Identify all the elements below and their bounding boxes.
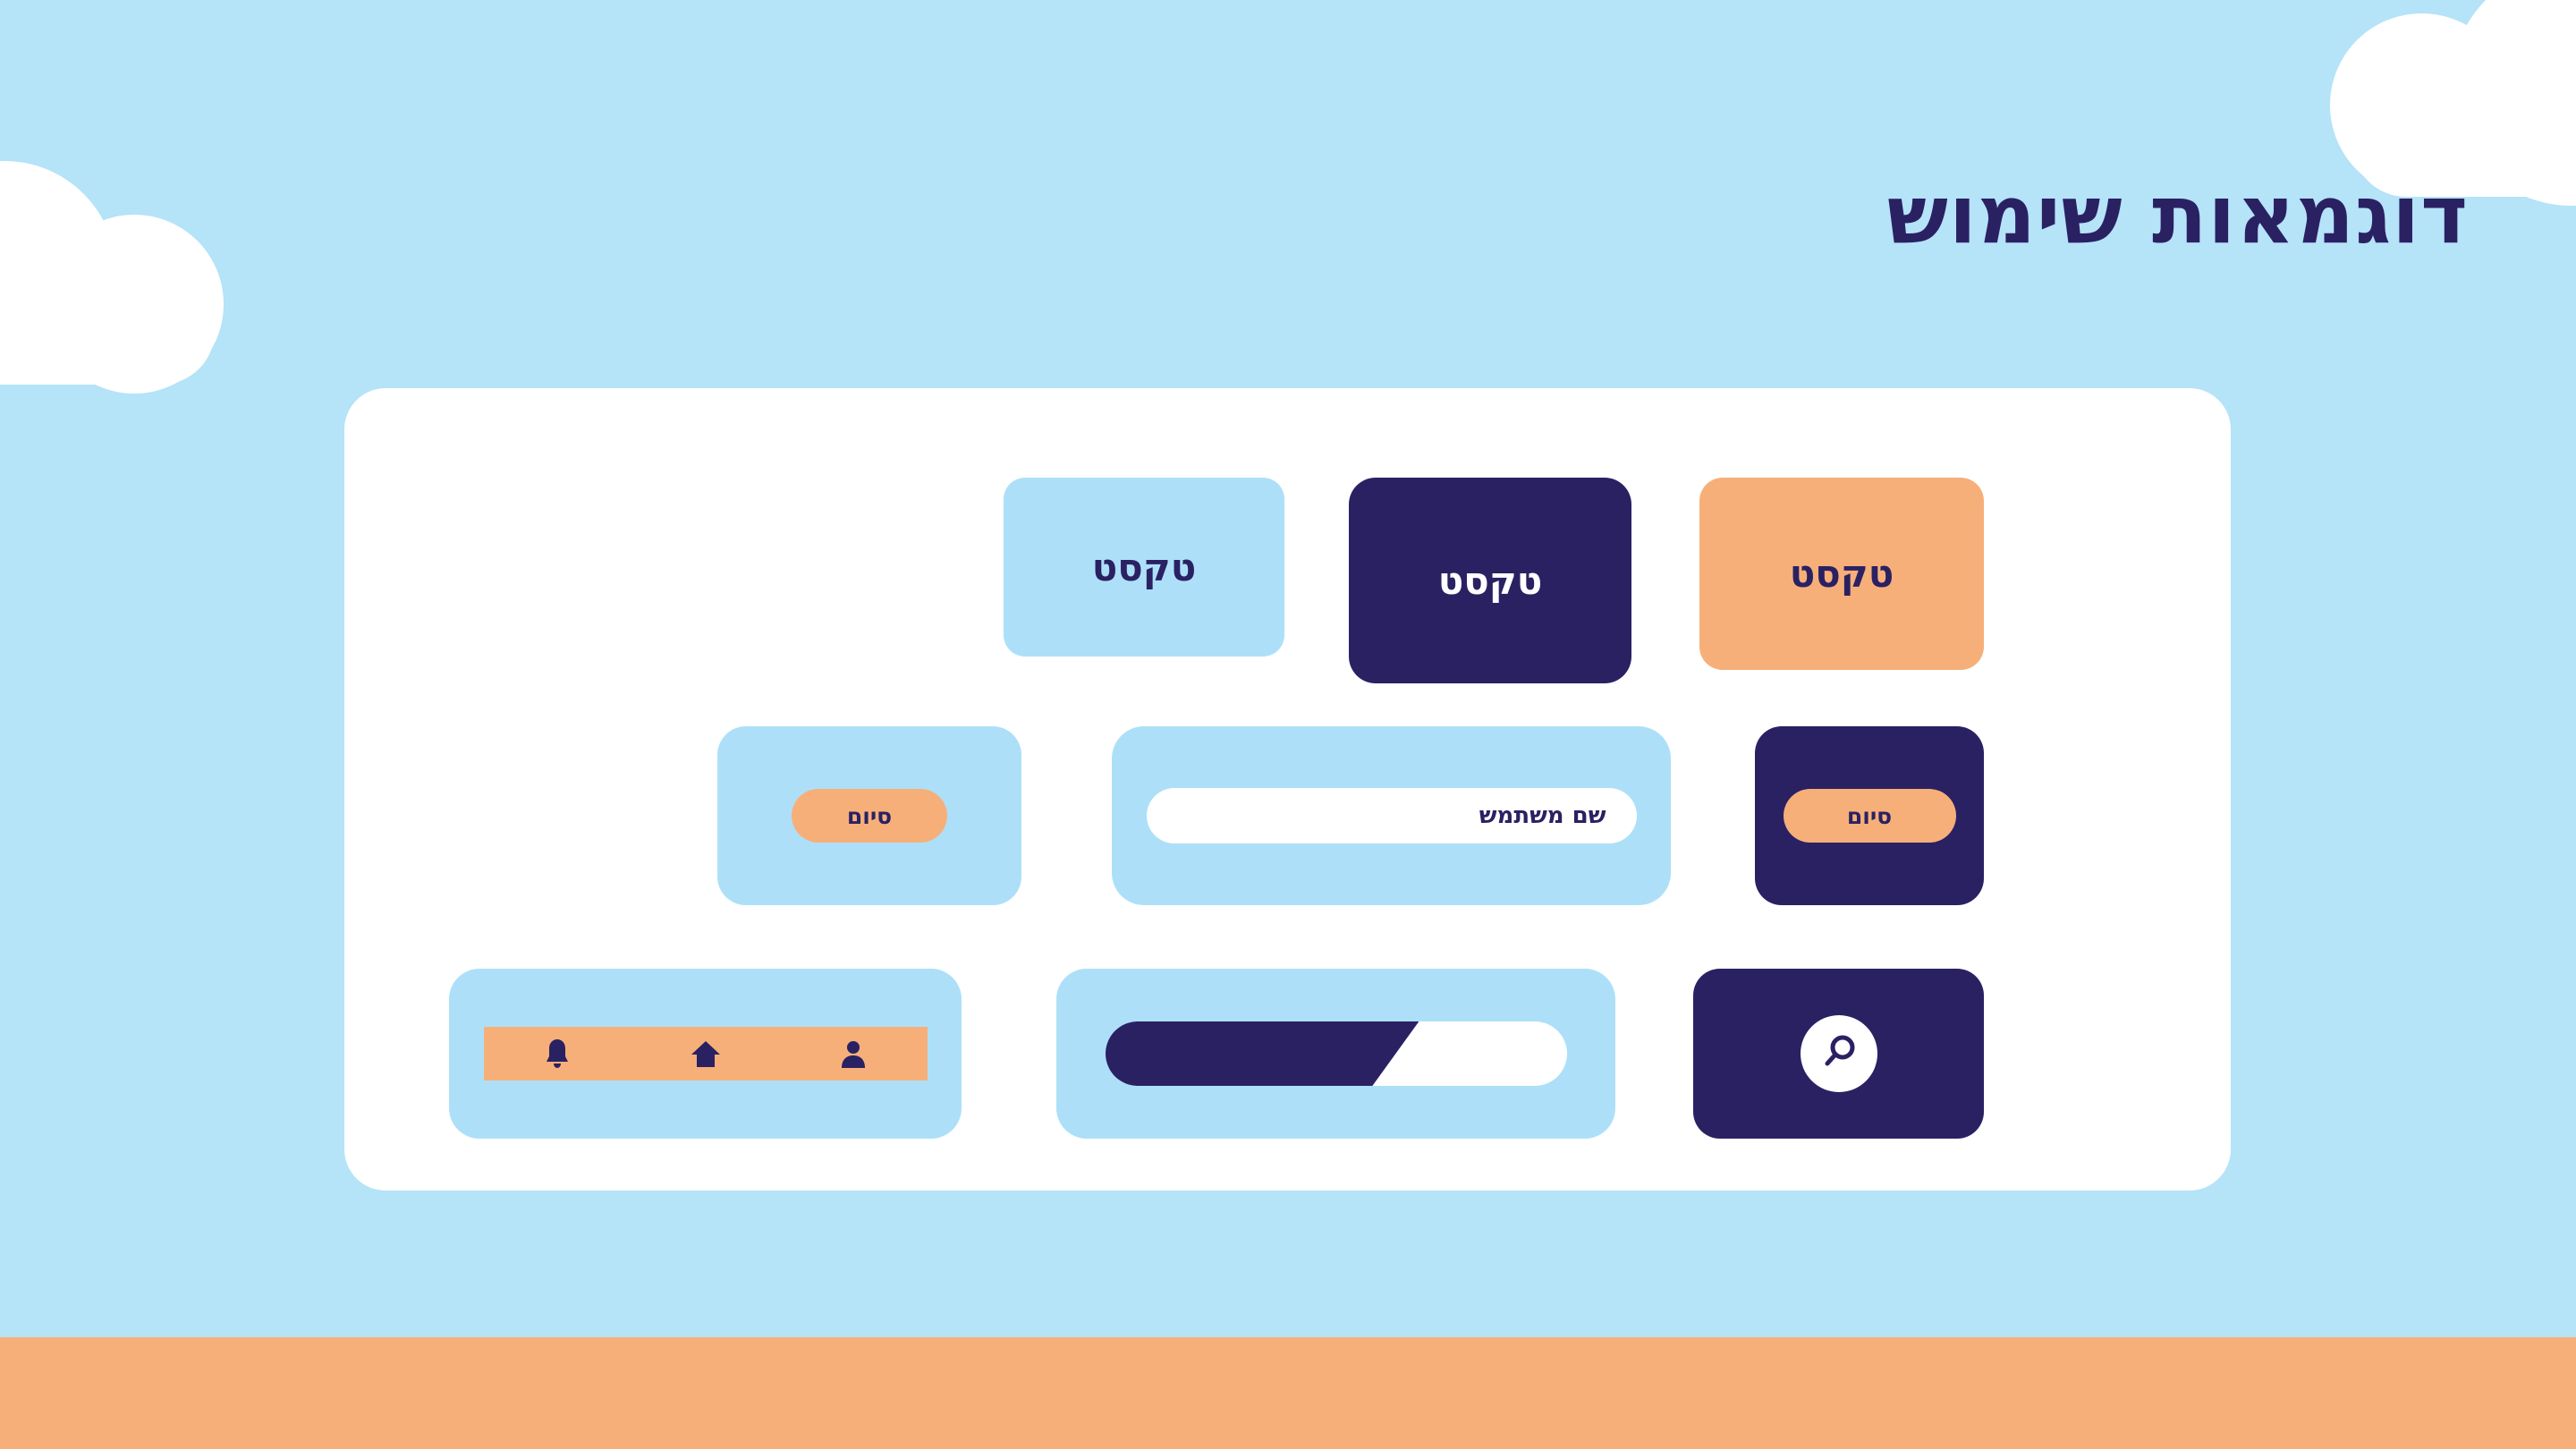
cloud-right-puff-large [2451, 0, 2576, 206]
card-finish-navy: סיום [1755, 726, 1984, 905]
card-username-field [1112, 726, 1671, 905]
text-button-navy[interactable]: טקסט [1349, 478, 1631, 683]
bell-icon-button[interactable] [533, 1034, 581, 1073]
username-input[interactable] [1147, 788, 1637, 843]
progress-bar-fill [1106, 1021, 1419, 1086]
cloud-left-puff-large [0, 161, 116, 385]
search-button[interactable] [1801, 1015, 1877, 1092]
showcase-panel: טקסט טקסט טקסט סיום סיום [344, 388, 2231, 1191]
bottom-orange-band [0, 1337, 2576, 1449]
card-progress [1056, 969, 1615, 1139]
text-button-orange[interactable]: טקסט [1699, 478, 1984, 670]
row-text-buttons: טקסט טקסט טקסט [449, 478, 1984, 726]
bell-icon [545, 1038, 570, 1069]
card-icon-bar [449, 969, 962, 1139]
card-search [1693, 969, 1984, 1139]
icon-bar [484, 1027, 928, 1080]
home-icon-button[interactable] [682, 1034, 730, 1073]
finish-button-on-light-blue[interactable]: סיום [792, 789, 947, 843]
progress-bar[interactable] [1106, 1021, 1567, 1086]
page-title: דוגמאות שימוש [1887, 175, 2469, 256]
home-icon [691, 1039, 721, 1068]
cloud-left-decoration [0, 161, 268, 394]
card-finish-light-blue: סיום [717, 726, 1021, 905]
finish-button-on-navy[interactable]: סיום [1784, 789, 1956, 843]
user-icon [840, 1039, 867, 1068]
row-inputs-and-pills: סיום סיום [449, 726, 1984, 969]
user-icon-button[interactable] [829, 1034, 877, 1073]
text-button-light-blue[interactable]: טקסט [1004, 478, 1284, 657]
cloud-left-puff-small [45, 215, 224, 394]
cloud-left-base [0, 268, 215, 385]
component-grid: טקסט טקסט טקסט סיום סיום [449, 478, 1984, 1191]
search-icon [1818, 1031, 1860, 1076]
row-icons-and-progress [449, 969, 1984, 1191]
